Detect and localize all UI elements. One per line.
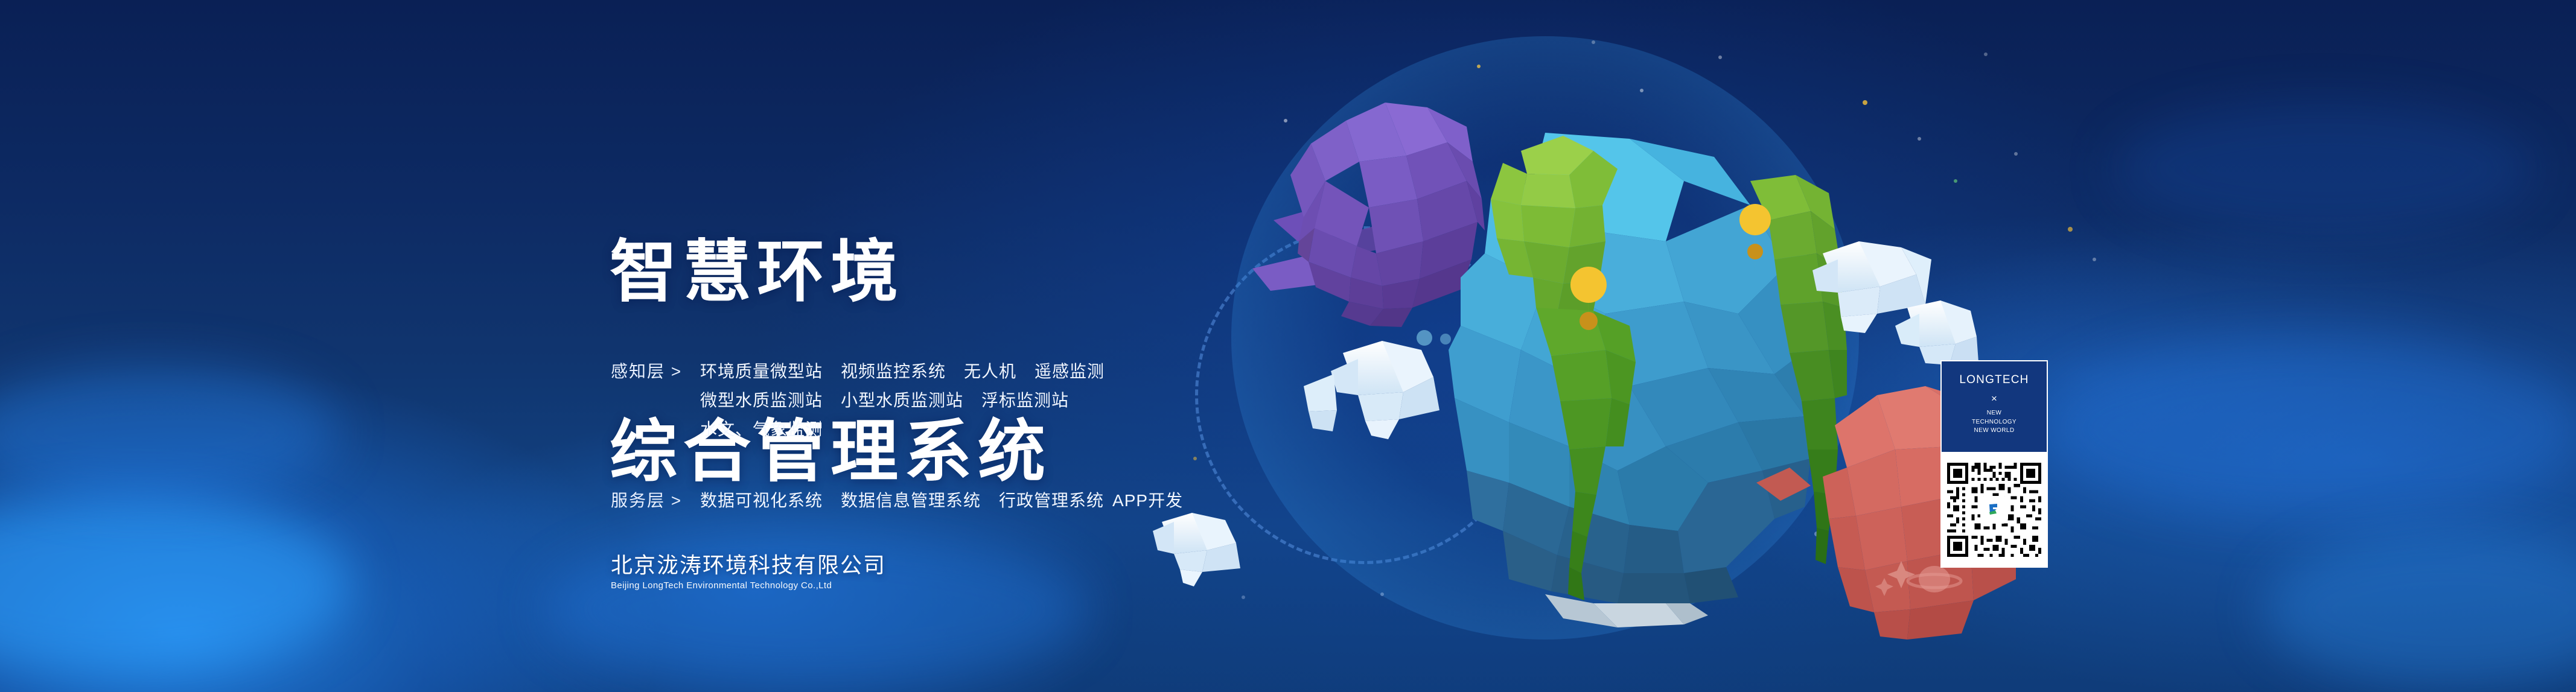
tagline-line-2: TECHNOLOGY	[1972, 418, 2016, 427]
feature-item[interactable]: 无人机	[964, 357, 1016, 386]
nebula-wisp-left2	[0, 362, 338, 501]
cloud-bottom-left	[1153, 513, 1240, 586]
qr-center-logo	[1981, 497, 2007, 522]
feature-item[interactable]: 数据信息管理系统	[841, 486, 981, 515]
feature-group-perception: 感知层 > 环境质量微型站 视频监控系统 无人机 遥感监测 微型水质监测站 小型…	[611, 357, 1123, 444]
feature-item[interactable]: 水文、气象监测	[700, 415, 823, 444]
tagline-line-3: NEW WORLD	[1972, 427, 2016, 436]
feature-label-text: 感知层	[611, 362, 665, 381]
feature-group-spacer	[611, 452, 1123, 486]
feature-group-service: 服务层 > 数据可视化系统 数据信息管理系统 行政管理系统 APP开发	[611, 486, 1123, 515]
feature-group-label: 感知层 >	[611, 357, 700, 386]
hero-banner: 智慧环境 综合管理系统 感知层 > 环境质量微型站 视频监控系统 无人机 遥感监…	[0, 0, 2576, 692]
chevron-right-icon: >	[671, 491, 682, 510]
feature-item[interactable]: 数据可视化系统	[700, 486, 823, 515]
nebula-wisp-topright	[2112, 103, 2535, 235]
qr-code-icon[interactable]	[1944, 460, 2044, 560]
chevron-right-icon: >	[671, 362, 682, 381]
brand-name: LONGTECH	[1959, 373, 2029, 387]
map-pin-south-america	[1570, 267, 1607, 345]
company-name-en: Beijing LongTech Environmental Technolog…	[611, 580, 886, 591]
feature-line: 微型水质监测站 小型水质监测站 浮标监测站	[700, 386, 1123, 415]
feature-item[interactable]: 遥感监测	[1035, 357, 1105, 386]
feature-items: 数据可视化系统 数据信息管理系统 行政管理系统 APP开发	[700, 486, 1123, 515]
qr-card-header: LONGTECH × NEW TECHNOLOGY NEW WORLD	[1940, 360, 2048, 452]
feature-layers: 感知层 > 环境质量微型站 视频监控系统 无人机 遥感监测 微型水质监测站 小型…	[611, 357, 1123, 524]
tagline: NEW TECHNOLOGY NEW WORLD	[1972, 409, 2016, 436]
company-name-cn: 北京泷涛环境科技有限公司	[611, 553, 886, 578]
cloud-right-lower	[1895, 300, 1978, 365]
feature-item[interactable]: 行政管理系统	[999, 486, 1104, 515]
feature-item[interactable]: 微型水质监测站	[700, 386, 823, 415]
feature-line: 环境质量微型站 视频监控系统 无人机 遥感监测	[700, 357, 1123, 386]
longtech-logo-icon	[1985, 501, 2003, 519]
tagline-line-1: NEW	[1972, 409, 2016, 418]
feature-item[interactable]: 浮标监测站	[981, 386, 1069, 415]
nebula-wisp-right	[2040, 338, 2576, 519]
feature-group-label: 服务层 >	[611, 486, 700, 515]
feature-item[interactable]: 视频监控系统	[841, 357, 946, 386]
nebula-wisp-left	[0, 495, 350, 676]
qr-card[interactable]: LONGTECH × NEW TECHNOLOGY NEW WORLD	[1940, 360, 2048, 568]
nebula-wisp-right2	[2263, 531, 2576, 688]
cloud-right-upper	[1812, 241, 1931, 333]
feature-item[interactable]: 小型水质监测站	[841, 386, 963, 415]
feature-line: 数据可视化系统 数据信息管理系统 行政管理系统 APP开发	[700, 486, 1123, 515]
company-signature: 北京泷涛环境科技有限公司 Beijing LongTech Environmen…	[611, 553, 886, 591]
feature-line: 水文、气象监测	[700, 415, 1123, 444]
feature-items: 环境质量微型站 视频监控系统 无人机 遥感监测 微型水质监测站 小型水质监测站 …	[700, 357, 1123, 444]
feature-item[interactable]: 环境质量微型站	[700, 357, 823, 386]
x-mark-icon: ×	[1991, 393, 1997, 404]
title-line-1: 智慧环境	[610, 227, 1051, 317]
feature-label-text: 服务层	[611, 491, 665, 510]
qr-code-area[interactable]	[1940, 452, 2048, 568]
map-pin-africa	[1739, 204, 1771, 273]
orbit-ring	[1195, 226, 1533, 564]
feature-item[interactable]: APP开发	[1112, 486, 1183, 515]
